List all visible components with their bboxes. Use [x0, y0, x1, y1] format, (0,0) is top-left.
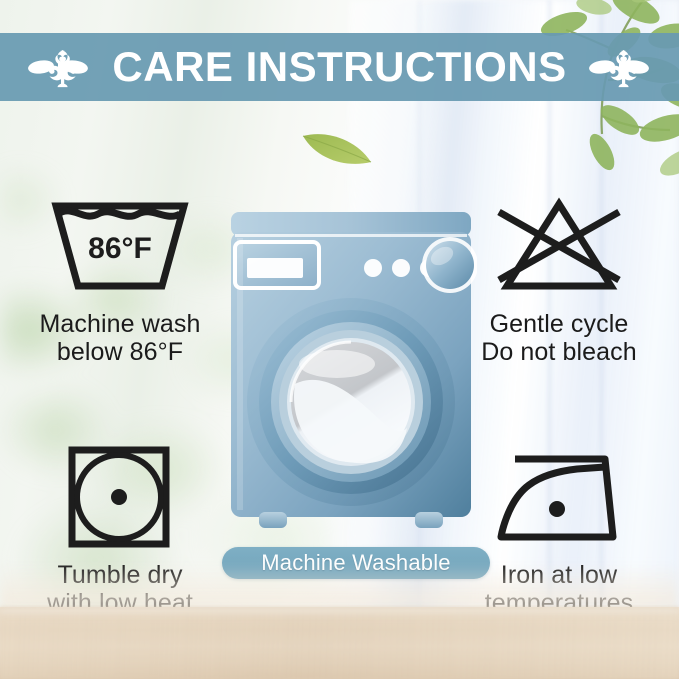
- caption-line: Machine wash: [39, 310, 200, 338]
- care-item-machine-wash: 86°F Machine wash below 86°F: [10, 192, 230, 366]
- wooden-table-surface: [0, 607, 679, 679]
- header-banner: CARE INSTRUCTIONS: [0, 33, 679, 101]
- table-soft-shadow: [0, 563, 679, 607]
- caption-line: Gentle cycle: [481, 310, 637, 338]
- care-item-do-not-bleach: Gentle cycle Do not bleach: [449, 192, 669, 366]
- fleur-de-lis-icon: [28, 44, 90, 90]
- table-front-edge: [0, 607, 679, 617]
- detergent-drawer-slot: [247, 258, 303, 278]
- triangle-crossed-no-bleach-icon: [485, 192, 633, 300]
- indicator-light: [364, 259, 382, 277]
- care-instructions-infographic: CARE INSTRUCTIONS: [0, 0, 679, 679]
- machine-foot: [259, 512, 287, 528]
- caption-line: below 86°F: [39, 338, 200, 366]
- floating-leaf-icon: [297, 122, 377, 174]
- washing-machine-illustration: [225, 212, 477, 534]
- page-title: CARE INSTRUCTIONS: [112, 46, 566, 88]
- iron-low-temp-icon: [485, 443, 633, 551]
- caption-line: Do not bleach: [481, 338, 637, 366]
- tumble-dry-low-icon: [46, 443, 194, 551]
- care-item-caption: Gentle cycle Do not bleach: [481, 310, 637, 366]
- table-wood-grain: [0, 607, 679, 679]
- fleur-de-lis-icon: [589, 44, 651, 90]
- indicator-light: [392, 259, 410, 277]
- machine-foot: [415, 512, 443, 528]
- care-item-caption: Machine wash below 86°F: [39, 310, 200, 366]
- wash-temperature-label: 86°F: [88, 232, 152, 265]
- wash-basin-icon: 86°F: [46, 192, 194, 300]
